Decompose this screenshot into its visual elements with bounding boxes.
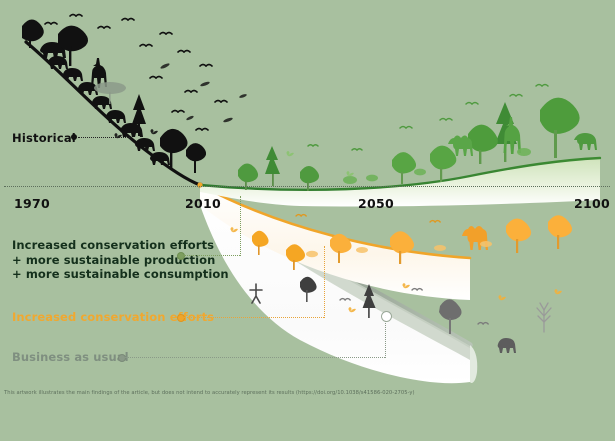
- biodiversity-scenarios-infographic: 1970 2010 2050 2100 Historical Increased…: [0, 0, 615, 441]
- baseline-axis: [4, 186, 610, 187]
- historical-legend-dot: [71, 134, 77, 140]
- scenario-legend-dot-conservation: [177, 314, 185, 322]
- scenario-legend-dot-business-as-usual: [118, 354, 126, 362]
- scenario-leader-line-business-as-usual: [125, 357, 385, 358]
- scenario-label-business-as-usual: Business as usual: [12, 350, 129, 365]
- scenario-leader-riser-business-as-usual: [385, 320, 386, 358]
- scenario-legend-dot-sustainable: [177, 252, 185, 260]
- scenario-line-1: Business as usual: [12, 350, 129, 365]
- scenario-leader-line-sustainable: [184, 255, 240, 256]
- scenario-leader-riser-conservation: [324, 246, 325, 318]
- year-label-2010: 2010: [185, 196, 221, 211]
- year-label-2100: 2100: [574, 196, 610, 211]
- year-label-2050: 2050: [358, 196, 394, 211]
- scenario-line-1: Increased conservation efforts: [12, 238, 229, 253]
- scenario-leader-line-conservation: [184, 317, 324, 318]
- artwork-layer: [0, 0, 615, 441]
- year-label-1970: 1970: [14, 196, 50, 211]
- scenario-label-sustainable: Increased conservation efforts + more su…: [12, 238, 229, 282]
- scenario-line-3: + more sustainable consumption: [12, 267, 229, 282]
- historical-silhouettes: [22, 15, 247, 174]
- footnote: This artwork illustrates the main findin…: [4, 390, 415, 396]
- business-as-usual-curve-marker: [381, 311, 392, 322]
- historical-leader-line: [78, 137, 130, 138]
- scenario-leader-riser-sustainable: [240, 196, 241, 256]
- historical-label: Historical: [12, 131, 76, 145]
